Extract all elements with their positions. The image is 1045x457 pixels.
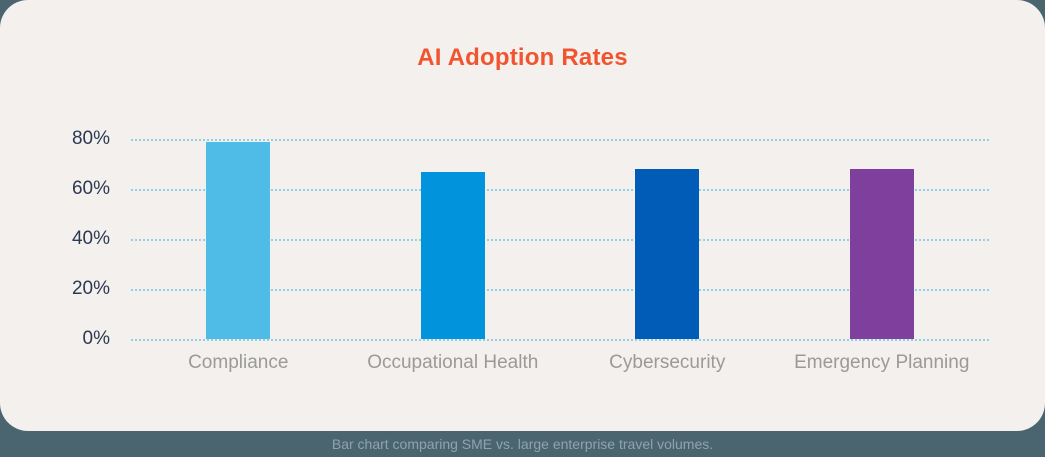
y-axis-tick-label: 80% bbox=[0, 128, 110, 150]
chart-page: AI Adoption Rates 0%20%40%60%80% Complia… bbox=[0, 0, 1045, 457]
gridline bbox=[131, 339, 989, 341]
bar-slot bbox=[131, 119, 346, 339]
x-axis-category-label: Cybersecurity bbox=[560, 352, 775, 374]
bar-slot bbox=[775, 119, 990, 339]
y-axis-tick-label: 40% bbox=[0, 228, 110, 250]
y-axis-tick-label: 0% bbox=[0, 328, 110, 350]
bar-series bbox=[131, 119, 989, 339]
chart-title: AI Adoption Rates bbox=[0, 44, 1045, 72]
chart-caption: Bar chart comparing SME vs. large enterp… bbox=[0, 436, 1045, 452]
x-axis-category-label: Compliance bbox=[131, 352, 346, 374]
y-axis-tick-label: 60% bbox=[0, 178, 110, 200]
bar[interactable] bbox=[421, 172, 485, 340]
x-axis-category-label: Emergency Planning bbox=[775, 352, 990, 374]
x-axis-labels: ComplianceOccupational HealthCybersecuri… bbox=[131, 352, 989, 382]
y-axis-tick-label: 20% bbox=[0, 278, 110, 300]
chart-card: AI Adoption Rates 0%20%40%60%80% Complia… bbox=[0, 0, 1045, 431]
bar[interactable] bbox=[635, 169, 699, 339]
bar[interactable] bbox=[850, 169, 914, 339]
x-axis-category-label: Occupational Health bbox=[346, 352, 561, 374]
bar[interactable] bbox=[206, 142, 270, 340]
bar-slot bbox=[346, 119, 561, 339]
bar-slot bbox=[560, 119, 775, 339]
